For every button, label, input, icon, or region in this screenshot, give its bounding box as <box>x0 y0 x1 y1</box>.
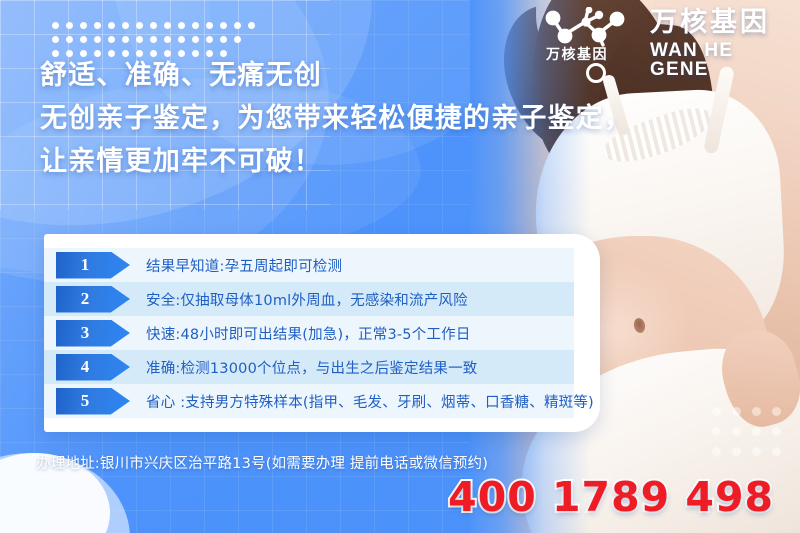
feature-text: 快速:48小时即可出结果(加急)，正常3-5个工作日 <box>146 323 471 344</box>
feature-row: 3 快速:48小时即可出结果(加急)，正常3-5个工作日 <box>44 316 600 350</box>
logo-wordmark: 万核基因 WAN HE GENE <box>650 7 796 79</box>
headline-line-2: 无创亲子鉴定，为您带来轻松便捷的亲子鉴定， <box>40 101 640 137</box>
dot-row <box>712 427 792 447</box>
feature-text: 结果早知道:孕五周起即可检测 <box>146 255 342 276</box>
logo-name-cn: 万核基因 <box>650 9 796 36</box>
feature-number: 2 <box>81 289 90 309</box>
dot-row <box>712 447 792 467</box>
office-address: 办理地址:银川市兴庆区治平路13号(如需要办理 提前电话或微信预约) <box>36 452 488 473</box>
feature-row: 4 准确:检测13000个位点，与出生之后鉴定结果一致 <box>44 350 600 384</box>
feature-row: 1 结果早知道:孕五周起即可检测 <box>44 248 600 282</box>
dot-row <box>712 407 792 427</box>
feature-number: 3 <box>81 323 90 343</box>
feature-text: 安全:仅抽取母体10ml外周血，无感染和流产风险 <box>146 289 468 310</box>
headline-line-1: 舒适、准确、无痛无创 <box>40 58 640 94</box>
poster-canvas: 万核基因 万核基因 WAN HE GENE 舒适、准确、无痛无创 无创亲子鉴定，… <box>0 0 800 533</box>
feature-text: 省心 :支持男方特殊样本(指甲、毛发、牙刷、烟蒂、口香糖、精斑等) <box>146 391 594 412</box>
hotline-phone-number[interactable]: 400 1789 498 <box>448 473 774 521</box>
headline-line-3: 让亲情更加牢不可破！ <box>40 144 640 180</box>
dot-grid-bottom-right <box>712 407 792 467</box>
feature-number: 4 <box>81 357 90 377</box>
logo-name-en: WAN HE GENE <box>650 41 796 79</box>
feature-number: 5 <box>81 391 90 411</box>
feature-list-panel: 1 结果早知道:孕五周起即可检测 2 安全:仅抽取母体10ml外周血，无感染和流… <box>44 234 600 432</box>
dot-row <box>52 22 262 36</box>
feature-row: 2 安全:仅抽取母体10ml外周血，无感染和流产风险 <box>44 282 600 316</box>
feature-row: 5 省心 :支持男方特殊样本(指甲、毛发、牙刷、烟蒂、口香糖、精斑等) <box>44 384 600 418</box>
feature-text: 准确:检测13000个位点，与出生之后鉴定结果一致 <box>146 357 478 378</box>
dot-row <box>52 36 262 50</box>
feature-number: 1 <box>81 255 90 275</box>
headline-block: 舒适、准确、无痛无创 无创亲子鉴定，为您带来轻松便捷的亲子鉴定， 让亲情更加牢不… <box>40 58 640 188</box>
